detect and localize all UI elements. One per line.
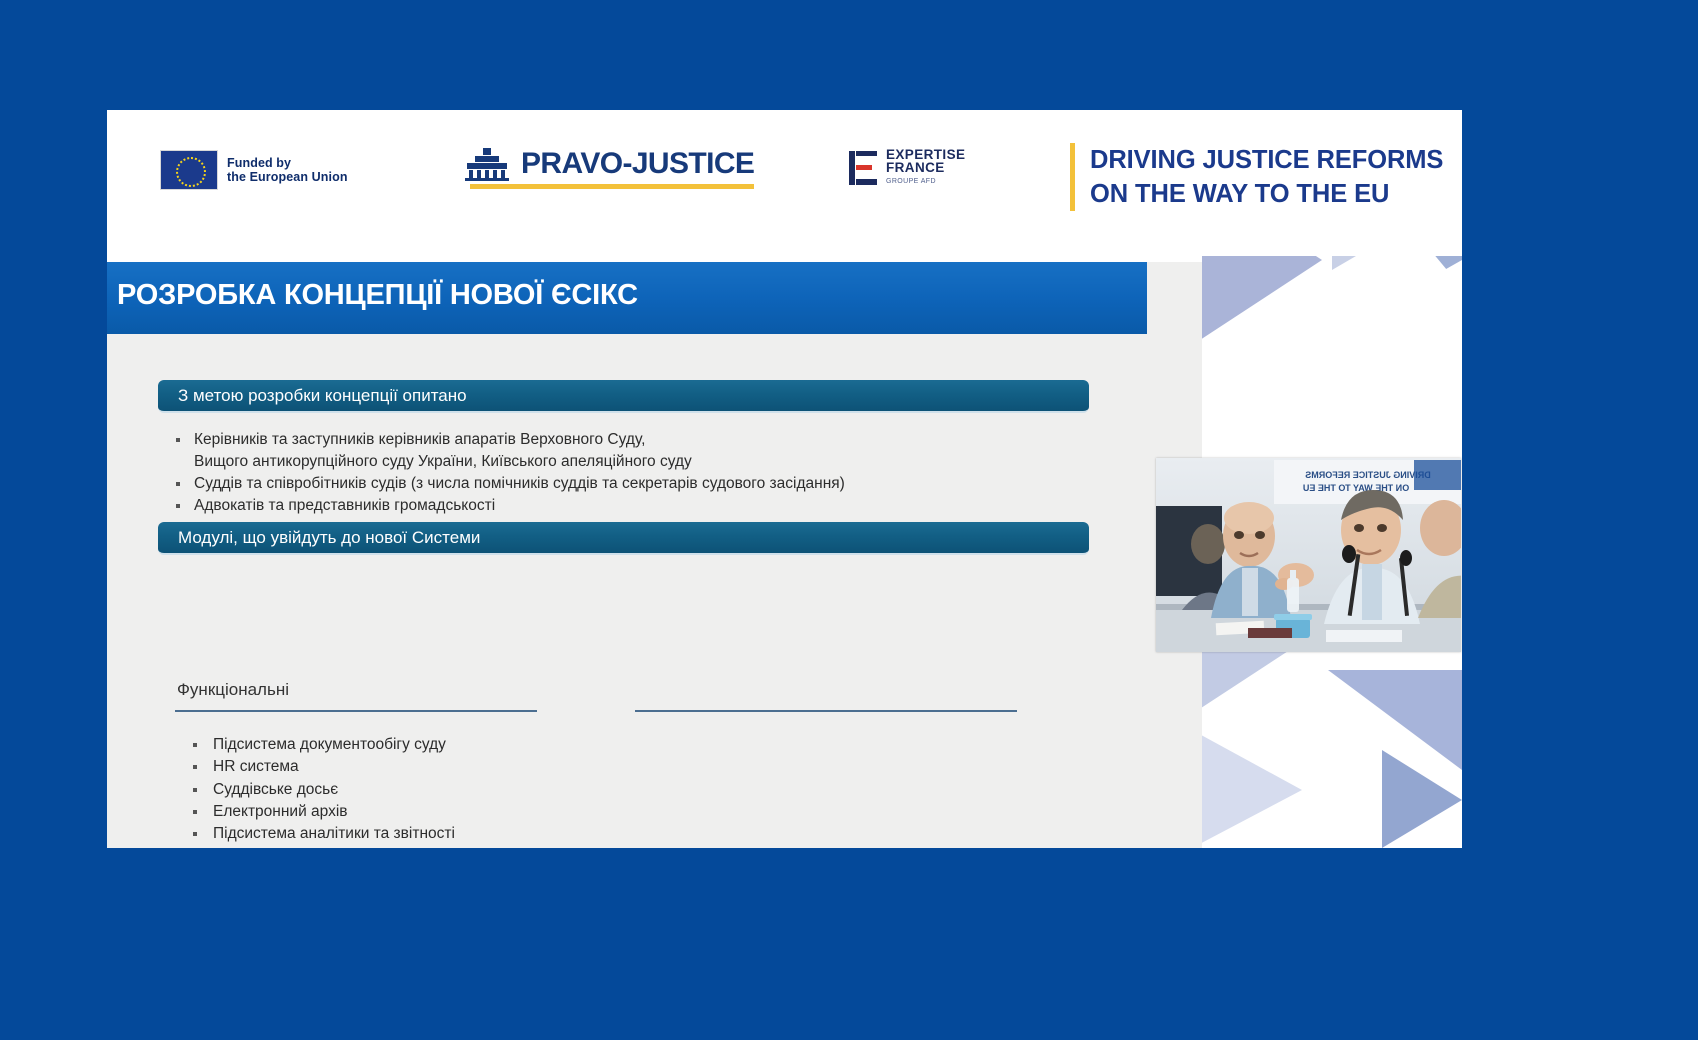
slide-header: Funded by the European Union PRAVO-JUSTI… [107,110,1462,256]
speaker-panel-video[interactable]: DRIVING JUSTICE REFORMS ON THE WAY TO TH… [1156,458,1461,652]
eu-funding-line2: the European Union [227,170,348,184]
programme-tagline: DRIVING JUSTICE REFORMS ON THE WAY TO TH… [1070,143,1443,211]
tagline-line1: DRIVING JUSTICE REFORMS [1090,143,1443,177]
eu-funding-logo: Funded by the European Union [160,150,348,190]
eu-stars-icon [176,157,206,187]
slide-title: РОЗРОБКА КОНЦЕПЦІЇ НОВОЇ ЄСІКС [117,279,638,312]
expertise-france-line2: FRANCE [886,161,965,174]
modules-list: Підсистема документообігу суду HR систем… [177,734,455,848]
pravo-justice-logo: PRAVO-JUSTICE [465,148,754,189]
tagline-line2: ON THE WAY TO THE EU [1090,177,1443,211]
list-item: Підсистема авторозподілу [177,845,455,848]
section-heading-respondents-label: З метою розробки концепції опитано [178,386,467,406]
divider-right [635,710,1017,712]
respondents-list: Керівників та заступників керівників апа… [158,429,845,517]
courthouse-icon [465,148,509,180]
modules-subcategory-label: Функціональні [177,680,289,700]
eu-funding-text: Funded by the European Union [227,156,348,184]
svg-text:ON THE WAY TO THE EU: ON THE WAY TO THE EU [1303,483,1409,493]
divider-left [175,710,537,712]
expertise-france-logo: EXPERTISE FRANCE GROUPE AFD [849,148,965,187]
presentation-slide: Funded by the European Union PRAVO-JUSTI… [107,110,1462,848]
pravo-justice-underline [470,184,754,189]
list-item: Суддів та співробітників судів (з числа … [158,473,845,495]
svg-text:DRIVING JUSTICE REFORMS: DRIVING JUSTICE REFORMS [1305,470,1431,480]
list-item: Суддівське досьє [177,779,455,801]
expertise-france-line3: GROUPE AFD [886,176,965,187]
pravo-justice-wordmark: PRAVO-JUSTICE [521,149,754,179]
expertise-france-icon [849,151,879,185]
slide-body: З метою розробки концепції опитано Керів… [107,334,1147,848]
list-item: Керівників та заступників керівників апа… [158,429,845,473]
european-union-flag-icon [160,150,218,190]
list-item: Електронний архів [177,801,455,823]
list-item: Адвокатів та представників громадськості [158,495,845,517]
list-item: Підсистема документообігу суду [177,734,455,756]
section-heading-modules-label: Модулі, що увійдуть до нової Системи [178,528,480,548]
section-heading-modules: Модулі, що увійдуть до нової Системи [158,522,1089,555]
section-heading-respondents: З метою розробки концепції опитано [158,380,1089,413]
eu-funding-line1: Funded by [227,156,348,170]
expertise-france-wordmark: EXPERTISE FRANCE GROUPE AFD [886,148,965,187]
slide-title-bar: РОЗРОБКА КОНЦЕПЦІЇ НОВОЇ ЄСІКС [107,262,1147,334]
list-item: HR система [177,756,455,778]
list-item: Підсистема аналітики та звітності [177,823,455,845]
